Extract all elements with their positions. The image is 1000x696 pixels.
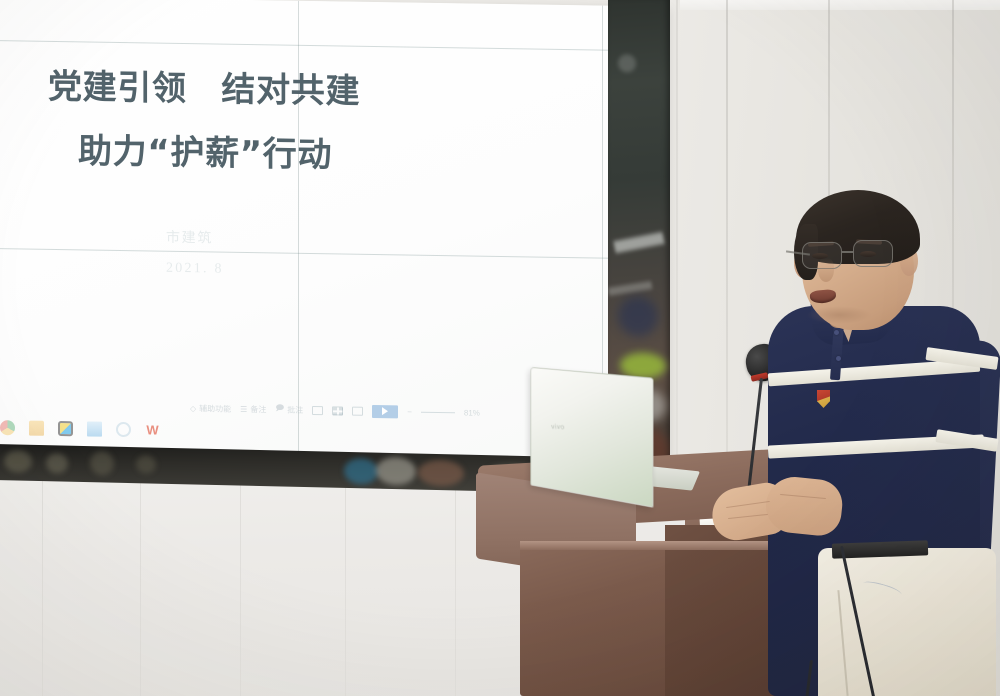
speaker-nose — [818, 258, 834, 282]
edge-icon[interactable] — [116, 421, 131, 436]
slide-subtitle-date: 2021. 8 — [166, 261, 224, 278]
wall-panel-seam — [240, 455, 241, 696]
store-icon[interactable] — [58, 421, 73, 436]
slide-title-line-2: 助力“护薪”行动 — [78, 123, 332, 176]
chrome-icon[interactable] — [0, 420, 15, 435]
accessibility-icon: ◇ — [190, 404, 196, 413]
shirt-button — [834, 330, 839, 335]
slide-subtitle-organization: 市建筑 — [166, 227, 213, 248]
slideshow-button[interactable] — [372, 404, 398, 417]
accessibility-label: 辅助功能 — [199, 403, 231, 415]
speaker-person — [690, 190, 990, 696]
comments-label: 批注 — [287, 404, 303, 415]
wall-panel-seam — [345, 455, 346, 696]
shirt-button — [836, 356, 841, 361]
zoom-out-icon[interactable]: − — [407, 407, 412, 416]
eyeglasses-bridge — [842, 251, 853, 253]
play-icon — [382, 407, 388, 415]
notes-button[interactable]: ☰ 备注 — [240, 403, 266, 414]
speaker-chin-shadow — [806, 306, 872, 324]
comment-bubble-icon: 🗩 — [275, 402, 284, 416]
comments-button[interactable]: 🗩 批注 — [275, 402, 303, 416]
wall-panel-seam — [455, 455, 456, 696]
eyeglasses-right-lens — [853, 240, 893, 267]
notes-label: 备注 — [250, 404, 266, 415]
laptop-brand-mark: vivo — [551, 424, 565, 431]
folder-icon[interactable] — [29, 420, 44, 435]
wall-panel-seam — [140, 455, 141, 696]
slide-sorter-view-icon[interactable] — [332, 406, 343, 415]
notes-icon: ☰ — [240, 404, 247, 413]
wps-icon[interactable]: W — [145, 422, 160, 437]
reading-view-icon[interactable] — [352, 406, 363, 415]
photograph-scene: 党建引领 结对共建 助力“护薪”行动 市建筑 2021. 8 ◇ 辅助功能 ☰ … — [0, 0, 1000, 696]
wall-panel-seam — [42, 455, 43, 696]
zoom-level-label: 81% — [464, 408, 480, 417]
taskbar-icon-group: W — [0, 420, 160, 438]
mail-icon[interactable] — [87, 421, 102, 436]
zoom-slider[interactable] — [421, 411, 455, 413]
accessibility-status-button[interactable]: ◇ 辅助功能 — [190, 403, 231, 415]
slide-title-line-1: 党建引领 结对共建 — [48, 59, 360, 113]
laptop-lid[interactable]: vivo — [530, 367, 653, 508]
normal-view-icon[interactable] — [312, 405, 323, 414]
